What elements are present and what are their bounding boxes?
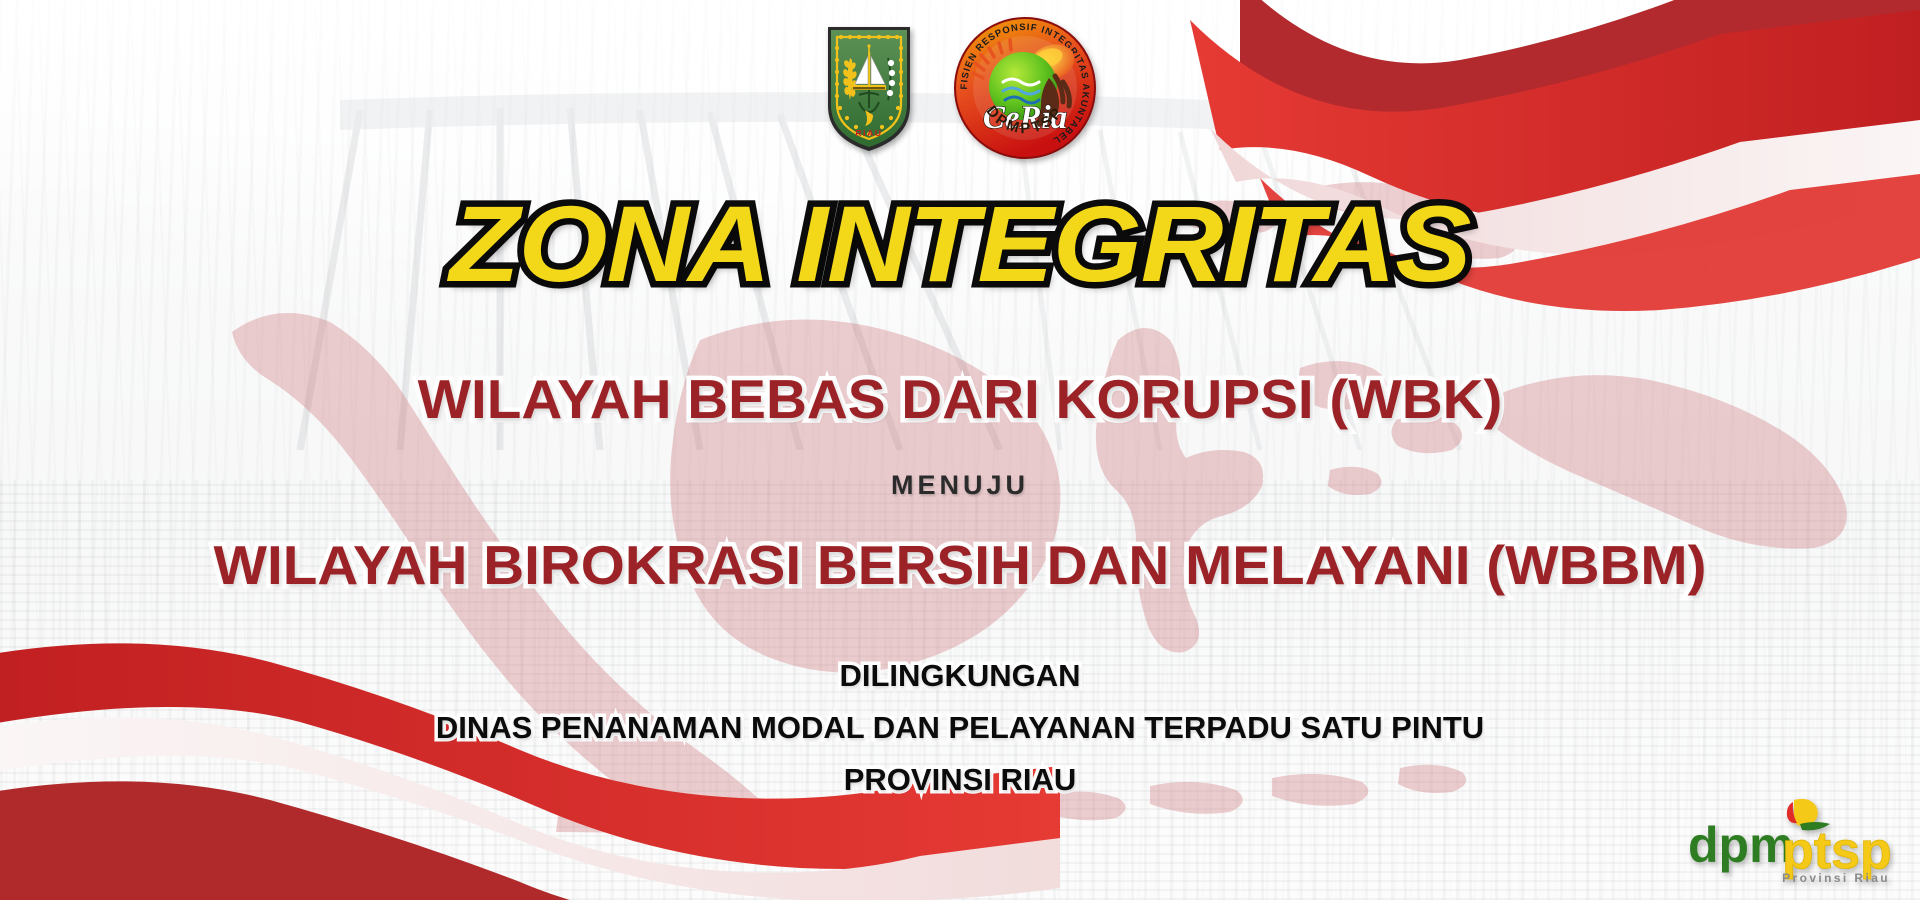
page-title: ZONA INTEGRITAS (0, 190, 1920, 298)
headline-wbk: WILAYAH BEBAS DARI KORUPSI (WBK) (0, 372, 1920, 427)
headline-menuju: MENUJU (0, 472, 1920, 499)
riau-crest-icon: RIAU (823, 22, 915, 154)
dpm-ptsp-logo-icon: dpm ptsp Provinsi Riau (1674, 790, 1902, 886)
dpm-logo-text: dpm (1688, 817, 1794, 873)
ceria-dpmptsp-logo-icon: CEPAT EFISIEN RESPONSIF INTEGRITAS AKUNT… (953, 16, 1097, 160)
emblem-row: RIAU (0, 22, 1920, 160)
subtext-province: PROVINSI RIAU (0, 764, 1920, 795)
subtext-dilingkungan: DILINGKUNGAN (0, 660, 1920, 691)
dpm-logo-tagline: Provinsi Riau (1782, 871, 1890, 885)
subtext-institution: DINAS PENANAMAN MODAL DAN PELAYANAN TERP… (0, 712, 1920, 743)
riau-crest-caption: RIAU (855, 128, 882, 138)
zona-integritas-banner: RIAU (0, 0, 1920, 900)
headline-wbbm: WILAYAH BIROKRASI BERSIH DAN MELAYANI (W… (0, 538, 1920, 593)
